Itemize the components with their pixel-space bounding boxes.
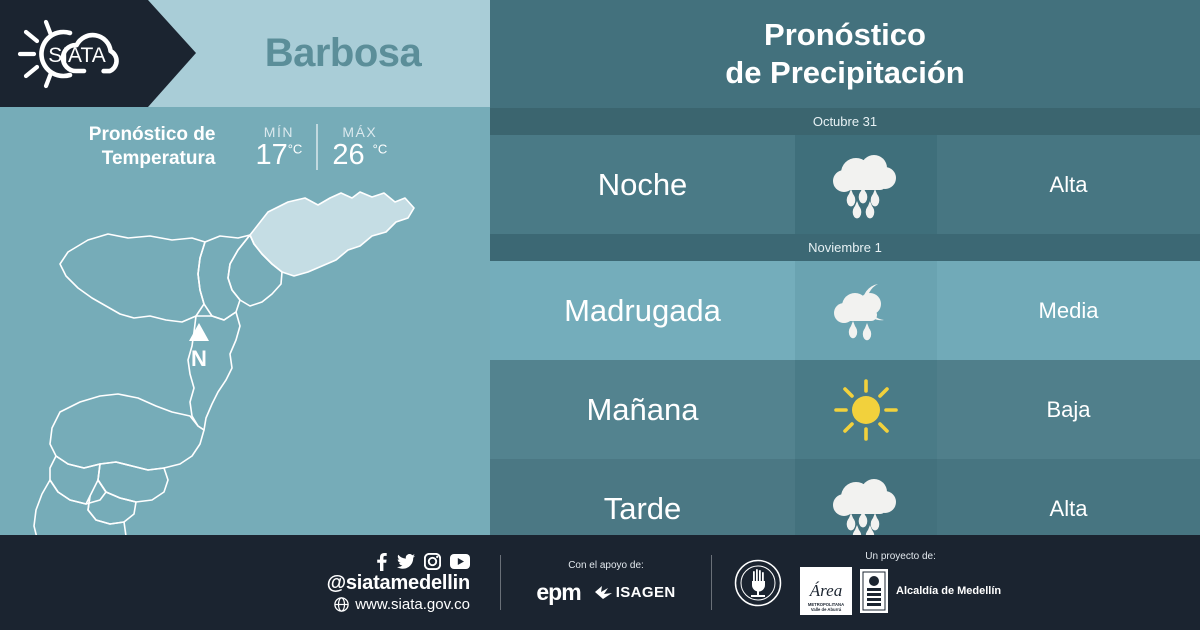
temperature-values: MÍN 17°C MÁX 26 °C [241, 124, 401, 170]
valle-de-aburra-map[interactable]: N [0, 180, 490, 535]
level-cell: Baja [937, 360, 1200, 459]
project-right: Un proyecto de: Área METROPOLITANA Valle… [800, 551, 1001, 615]
date-separator-nov1: Noviembre 1 [490, 234, 1200, 261]
temperature-min: MÍN 17°C [241, 124, 316, 170]
level-cell: Media [937, 261, 1200, 360]
cloud-rain-icon [829, 475, 903, 543]
sun-icon [832, 377, 900, 443]
period-label: Tarde [604, 491, 682, 527]
sun-cloud-icon: SIATA [14, 15, 144, 93]
period-label: Mañana [586, 392, 698, 428]
map-municipality-envigado[interactable] [98, 462, 168, 502]
city-title: Barbosa [196, 0, 490, 107]
temperature-min-value: 17°C [255, 140, 302, 170]
footer: @siatamedellin www.siata.gov.co Con el a… [0, 535, 1200, 630]
compass-label: N [191, 346, 207, 371]
period-label: Noche [598, 167, 688, 203]
map-municipality-barbosa[interactable] [250, 192, 414, 276]
area-metropolitana-logo[interactable]: Área METROPOLITANA Valle de Aburrá [800, 567, 852, 615]
map-municipality-copacabana[interactable] [198, 235, 250, 320]
website-url: www.siata.gov.co [355, 596, 470, 613]
temperature-title-line2: Temperatura [89, 147, 216, 171]
website-row[interactable]: www.siata.gov.co [334, 596, 470, 613]
social-handle[interactable]: @siatamedellin [327, 572, 470, 595]
project-logos: Área METROPOLITANA Valle de Aburrá Alcal… [800, 567, 1001, 615]
footer-project-block: Un proyecto de: Área METROPOLITANA Valle… [712, 551, 1200, 615]
twitter-icon[interactable] [397, 554, 415, 569]
precipitation-title-line1: Pronóstico [764, 16, 926, 54]
instagram-icon[interactable] [424, 553, 441, 570]
level-label: Alta [1050, 172, 1088, 198]
support-caption: Con el apoyo de: [568, 560, 644, 571]
level-cell: Alta [937, 135, 1200, 234]
temperature-block: Pronóstico de Temperatura MÍN 17°C MÁX 2… [0, 107, 490, 187]
level-label: Media [1039, 298, 1099, 324]
alcaldia-crest-icon[interactable] [859, 568, 889, 614]
weather-icon-cell [795, 135, 937, 234]
siata-logo-badge[interactable]: SIATA [0, 0, 196, 107]
precipitation-title-line2: de Precipitación [725, 54, 964, 92]
social-icons [375, 553, 470, 571]
level-label: Alta [1050, 496, 1088, 522]
map-municipality-bello[interactable] [60, 234, 205, 322]
weather-icon-cell [795, 360, 937, 459]
temperature-title: Pronóstico de Temperatura [89, 123, 216, 172]
period-cell: Madrugada [490, 261, 795, 360]
epm-logo[interactable]: epm [536, 579, 580, 606]
siata-logo-text: SIATA [48, 44, 106, 67]
forecast-row-madrugada[interactable]: Madrugada Media [490, 261, 1200, 360]
forecast-rows: Octubre 31 Noche [490, 108, 1200, 558]
area-sub-2: Valle de Aburrá [811, 607, 841, 612]
temperature-min-label: MÍN [255, 124, 302, 140]
temperature-title-line1: Pronóstico de [89, 123, 216, 147]
left-panel: SIATA Barbosa Pronóstico de Temperatura … [0, 0, 490, 535]
moon-cloud-rain-icon [831, 280, 901, 342]
weather-forecast-card: SIATA Barbosa Pronóstico de Temperatura … [0, 0, 1200, 630]
forecast-row-manana[interactable]: Mañana [490, 360, 1200, 459]
temperature-max: MÁX 26 °C [316, 124, 401, 170]
period-cell: Noche [490, 135, 795, 234]
isagen-mark-icon [595, 585, 612, 600]
forecast-row-noche[interactable]: Noche [490, 135, 1200, 234]
precipitation-panel: Pronóstico de Precipitación Octubre 31 N… [490, 0, 1200, 535]
support-logos: epm ISAGEN [536, 579, 675, 606]
project-caption: Un proyecto de: [865, 551, 936, 562]
temperature-max-label: MÁX [332, 124, 387, 140]
cloud-rain-icon [829, 151, 903, 219]
date-separator-oct31: Octubre 31 [490, 108, 1200, 135]
temperature-max-value: 26 °C [332, 140, 387, 170]
map-municipality-medellin[interactable] [50, 394, 204, 470]
footer-support-block: Con el apoyo de: epm ISAGEN [501, 560, 711, 606]
globe-icon [334, 597, 349, 612]
youtube-icon[interactable] [450, 554, 470, 569]
map-svg: N [0, 180, 490, 535]
footer-social-block: @siatamedellin www.siata.gov.co [0, 553, 500, 613]
isagen-wordmark: ISAGEN [616, 584, 676, 601]
period-cell: Mañana [490, 360, 795, 459]
compass-north-icon: N [189, 323, 209, 371]
isagen-logo[interactable]: ISAGEN [595, 584, 676, 601]
udea-seal-icon[interactable] [734, 559, 782, 607]
area-script-text: Área [810, 582, 842, 599]
weather-icon-cell [795, 261, 937, 360]
alcaldia-label: Alcaldía de Medellín [896, 585, 1001, 597]
facebook-icon[interactable] [375, 553, 388, 571]
period-label: Madrugada [564, 293, 721, 329]
level-label: Baja [1046, 397, 1090, 423]
left-header: SIATA Barbosa [0, 0, 490, 107]
precipitation-title: Pronóstico de Precipitación [490, 0, 1200, 108]
map-municipality-caldas[interactable] [34, 480, 126, 535]
